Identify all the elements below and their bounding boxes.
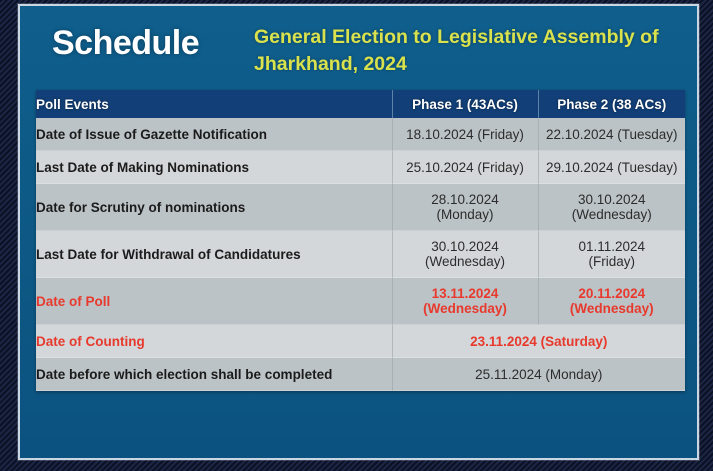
column-header-phase-2: Phase 2 (38 ACs) bbox=[538, 90, 685, 118]
slide-panel-frame: Schedule General Election to Legislative… bbox=[18, 4, 699, 460]
table-row: Last Date of Making Nominations25.10.202… bbox=[36, 151, 685, 184]
title-block: Schedule General Election to Legislative… bbox=[36, 14, 683, 86]
table-row: Last Date for Withdrawal of Candidatures… bbox=[36, 231, 685, 278]
slide-panel: Schedule General Election to Legislative… bbox=[20, 6, 697, 458]
table-header-row: Poll Events Phase 1 (43ACs) Phase 2 (38 … bbox=[36, 90, 685, 118]
column-header-poll-events: Poll Events bbox=[36, 90, 392, 118]
cell-phase-2-date: 20.11.2024(Wednesday) bbox=[538, 278, 685, 325]
cell-phase-2-date: 22.10.2024 (Tuesday) bbox=[538, 118, 685, 151]
table-row: Date of Poll13.11.2024(Wednesday)20.11.2… bbox=[36, 278, 685, 325]
schedule-table: Poll Events Phase 1 (43ACs) Phase 2 (38 … bbox=[36, 90, 685, 391]
cell-merged-date: 25.11.2024 (Monday) bbox=[392, 358, 685, 391]
cell-poll-event: Date for Scrutiny of nominations bbox=[36, 184, 392, 231]
table-row: Date before which election shall be comp… bbox=[36, 358, 685, 391]
cell-phase-1-date: 25.10.2024 (Friday) bbox=[392, 151, 538, 184]
cell-merged-date: 23.11.2024 (Saturday) bbox=[392, 325, 685, 358]
table-row: Date for Scrutiny of nominations28.10.20… bbox=[36, 184, 685, 231]
cell-phase-1-date: 13.11.2024(Wednesday) bbox=[392, 278, 538, 325]
table-row: Date of Counting23.11.2024 (Saturday) bbox=[36, 325, 685, 358]
cell-phase-2-date: 01.11.2024(Friday) bbox=[538, 231, 685, 278]
cell-poll-event: Last Date for Withdrawal of Candidatures bbox=[36, 231, 392, 278]
cell-phase-1-date: 30.10.2024(Wednesday) bbox=[392, 231, 538, 278]
slide-title: Schedule bbox=[52, 24, 199, 63]
table-body: Date of Issue of Gazette Notification18.… bbox=[36, 118, 685, 391]
table-header: Poll Events Phase 1 (43ACs) Phase 2 (38 … bbox=[36, 90, 685, 118]
cell-phase-1-date: 28.10.2024(Monday) bbox=[392, 184, 538, 231]
table-row: Date of Issue of Gazette Notification18.… bbox=[36, 118, 685, 151]
cell-poll-event: Date of Poll bbox=[36, 278, 392, 325]
cell-poll-event: Date of Counting bbox=[36, 325, 392, 358]
cell-phase-1-date: 18.10.2024 (Friday) bbox=[392, 118, 538, 151]
column-header-phase-1: Phase 1 (43ACs) bbox=[392, 90, 538, 118]
cell-poll-event: Last Date of Making Nominations bbox=[36, 151, 392, 184]
cell-phase-2-date: 29.10.2024 (Tuesday) bbox=[538, 151, 685, 184]
cell-poll-event: Date before which election shall be comp… bbox=[36, 358, 392, 391]
slide-subtitle: General Election to Legislative Assembly… bbox=[254, 24, 684, 78]
cell-phase-2-date: 30.10.2024(Wednesday) bbox=[538, 184, 685, 231]
cell-poll-event: Date of Issue of Gazette Notification bbox=[36, 118, 392, 151]
